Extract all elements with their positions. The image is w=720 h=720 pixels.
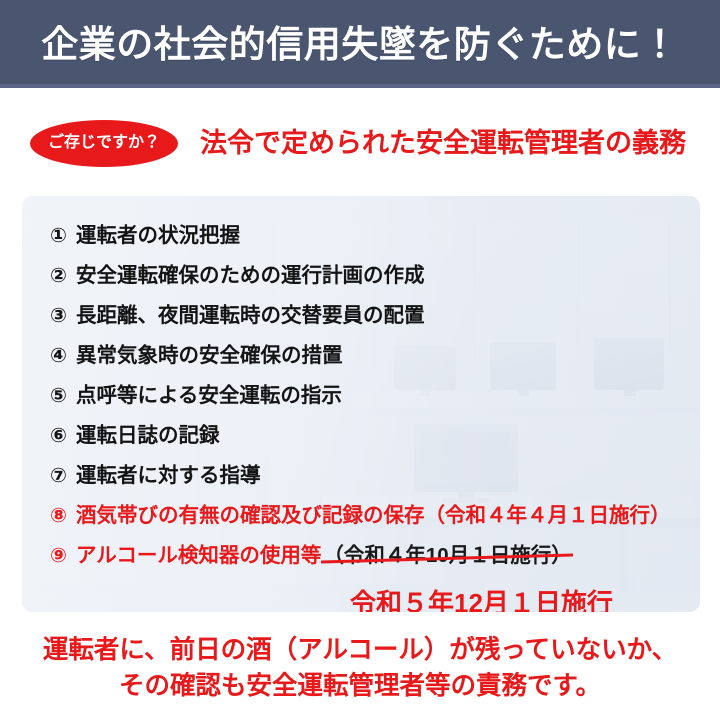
duty-text: 運転日誌の記録 [76,426,220,447]
duty-marker: ④ [50,346,76,366]
duty-marker: ③ [50,306,76,326]
duty-text-struck-date: （令和４年10月１日施行） [323,546,571,567]
duty-marker: ⑤ [50,386,76,406]
footer-line-1: 運転者に、前日の酒（アルコール）が残っていないか、 [0,632,720,668]
duty-item: ② 安全運転確保のための運行計画の作成 [50,266,700,306]
duty-text: 長距離、夜間運転時の交替要員の配置 [76,306,425,327]
footer-message: 運転者に、前日の酒（アルコール）が残っていないか、 その確認も安全運転管理者等の… [0,632,720,704]
duty-marker: ⑥ [50,426,76,446]
duty-list-panel: ① 運転者の状況把握 ② 安全運転確保のための運行計画の作成 ③ 長距離、夜間運… [22,196,700,612]
duty-text: 運転者に対する指導 [76,466,261,487]
duty-list: ① 運転者の状況把握 ② 安全運転確保のための運行計画の作成 ③ 長距離、夜間運… [22,196,700,612]
status-badge: ご存じですか？ [30,120,178,167]
revised-effective-date: 令和５年12月１日施行 [350,590,700,612]
duty-text: 異常気象時の安全確保の措置 [76,346,343,367]
subhead-row: ご存じですか？ 法令で定められた安全運転管理者の義務 [0,112,720,174]
duty-item-amended: ⑧ 酒気帯びの有無の確認及び記録の保存（令和４年４月１日施行） [50,506,700,546]
duty-text: 点呼等による安全運転の指示 [76,386,342,407]
subhead-headline: 法令で定められた安全運転管理者の義務 [200,130,686,157]
duty-marker: ⑧ [50,506,76,526]
duty-item: ① 運転者の状況把握 [50,226,700,266]
duty-marker: ② [50,266,76,286]
duty-text: 運転者の状況把握 [76,226,240,247]
status-badge-label: ご存じですか？ [48,135,160,151]
duty-item: ⑥ 運転日誌の記録 [50,426,700,466]
page-title: 企業の社会的信用失墜を防ぐために！ [41,26,679,63]
duty-marker: ⑨ [50,546,76,566]
duty-text: 安全運転確保のための運行計画の作成 [76,266,425,287]
footer-line-2: その確認も安全運転管理者等の責務です。 [0,668,720,704]
header-banner: 企業の社会的信用失墜を防ぐために！ [0,0,720,88]
duty-marker: ⑦ [50,466,76,486]
duty-text: 酒気帯びの有無の確認及び記録の保存（令和４年４月１日施行） [76,506,671,527]
duty-item: ③ 長距離、夜間運転時の交替要員の配置 [50,306,700,346]
duty-item: ⑤ 点呼等による安全運転の指示 [50,386,700,426]
duty-item-amended: ⑨ アルコール検知器の使用等 （令和４年10月１日施行） [50,546,700,586]
duty-item: ⑦ 運転者に対する指導 [50,466,700,506]
duty-text: アルコール検知器の使用等 [76,546,321,567]
duty-item: ④ 異常気象時の安全確保の措置 [50,346,700,386]
duty-marker: ① [50,226,76,246]
